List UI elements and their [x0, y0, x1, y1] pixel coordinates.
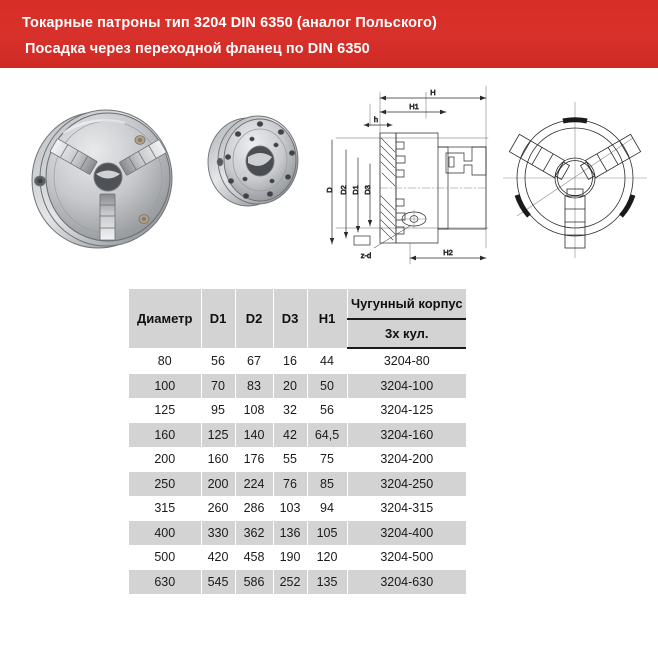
cell-cast-body: 3204-80: [347, 348, 466, 374]
table-row: 5004204581901203204-500: [129, 545, 466, 570]
cell-cast-body: 3204-400: [347, 521, 466, 546]
cell-h1: 64,5: [307, 423, 347, 448]
cell-d3: 42: [273, 423, 307, 448]
cell-h1: 94: [307, 496, 347, 521]
cell-d2: 224: [235, 472, 273, 497]
col-header-diameter: Диаметр: [129, 289, 201, 348]
cell-cast-body: 3204-125: [347, 398, 466, 423]
cell-d2: 176: [235, 447, 273, 472]
face-view-drawing: [495, 88, 655, 268]
cell-cast-body: 3204-630: [347, 570, 466, 595]
cell-cast-body: 3204-500: [347, 545, 466, 570]
table-row: 20016017655753204-200: [129, 447, 466, 472]
cell-cast-body: 3204-250: [347, 472, 466, 497]
cross-section-drawing: H H1 h D D2 D1: [318, 78, 498, 278]
cell-diameter: 80: [129, 348, 201, 374]
cell-h1: 75: [307, 447, 347, 472]
cell-d2: 458: [235, 545, 273, 570]
dim-label-D: D: [325, 187, 334, 193]
cell-d1: 95: [201, 398, 235, 423]
cell-cast-body: 3204-315: [347, 496, 466, 521]
dim-label-H1: H1: [409, 102, 419, 111]
cell-cast-body: 3204-160: [347, 423, 466, 448]
cell-d1: 160: [201, 447, 235, 472]
cell-d3: 190: [273, 545, 307, 570]
cell-diameter: 250: [129, 472, 201, 497]
cell-d2: 108: [235, 398, 273, 423]
cell-d1: 545: [201, 570, 235, 595]
specifications-table: Диаметр D1 D2 D3 H1 Чугунный корпус 3х к…: [129, 289, 466, 594]
cell-h1: 50: [307, 374, 347, 399]
cell-d1: 330: [201, 521, 235, 546]
cell-d3: 20: [273, 374, 307, 399]
col-header-d2: D2: [235, 289, 273, 348]
dim-label-H2: H2: [443, 248, 453, 257]
cell-diameter: 160: [129, 423, 201, 448]
cell-d3: 16: [273, 348, 307, 374]
col-header-d3: D3: [273, 289, 307, 348]
table-row: 1259510832563204-125: [129, 398, 466, 423]
cell-cast-body: 3204-200: [347, 447, 466, 472]
cell-d2: 362: [235, 521, 273, 546]
cell-d1: 420: [201, 545, 235, 570]
cell-diameter: 500: [129, 545, 201, 570]
table-row: 1601251404264,53204-160: [129, 423, 466, 448]
table-body: 80566716443204-80100708320503204-1001259…: [129, 348, 466, 594]
dim-label-D1: D1: [351, 185, 360, 195]
dim-label-D2: D2: [339, 185, 348, 195]
cell-h1: 56: [307, 398, 347, 423]
col-subheader-3jaw: 3х кул.: [347, 319, 466, 348]
cell-d3: 32: [273, 398, 307, 423]
cell-h1: 120: [307, 545, 347, 570]
cell-d1: 125: [201, 423, 235, 448]
cell-d1: 70: [201, 374, 235, 399]
cell-h1: 85: [307, 472, 347, 497]
chuck-rear-photo: [200, 105, 310, 215]
cell-d3: 55: [273, 447, 307, 472]
chuck-front-photo: [18, 88, 198, 268]
product-media-strip: H H1 h D D2 D1: [0, 70, 658, 282]
cell-d3: 76: [273, 472, 307, 497]
cell-diameter: 315: [129, 496, 201, 521]
cell-d1: 200: [201, 472, 235, 497]
col-header-d1: D1: [201, 289, 235, 348]
cell-d3: 252: [273, 570, 307, 595]
cell-h1: 105: [307, 521, 347, 546]
table-header: Диаметр D1 D2 D3 H1 Чугунный корпус 3х к…: [129, 289, 466, 348]
cell-diameter: 400: [129, 521, 201, 546]
cell-diameter: 125: [129, 398, 201, 423]
dim-label-D3: D3: [363, 185, 372, 195]
specifications-table-container: Диаметр D1 D2 D3 H1 Чугунный корпус 3х к…: [129, 289, 466, 594]
table-row: 80566716443204-80: [129, 348, 466, 374]
cell-h1: 135: [307, 570, 347, 595]
cell-d2: 83: [235, 374, 273, 399]
table-row: 25020022476853204-250: [129, 472, 466, 497]
cell-diameter: 200: [129, 447, 201, 472]
table-row: 315260286103943204-315: [129, 496, 466, 521]
cell-d2: 67: [235, 348, 273, 374]
cell-d1: 260: [201, 496, 235, 521]
banner-title-line-1: Токарные патроны тип 3204 DIN 6350 (анал…: [22, 15, 437, 31]
cell-h1: 44: [307, 348, 347, 374]
cell-d2: 586: [235, 570, 273, 595]
cell-d1: 56: [201, 348, 235, 374]
cell-d2: 286: [235, 496, 273, 521]
col-header-cast-body: Чугунный корпус: [347, 289, 466, 319]
col-header-h1: H1: [307, 289, 347, 348]
cell-d2: 140: [235, 423, 273, 448]
cell-d3: 136: [273, 521, 307, 546]
table-row: 4003303621361053204-400: [129, 521, 466, 546]
dim-label-H: H: [430, 88, 435, 97]
table-row: 6305455862521353204-630: [129, 570, 466, 595]
cell-cast-body: 3204-100: [347, 374, 466, 399]
table-header-row-primary: Диаметр D1 D2 D3 H1 Чугунный корпус: [129, 289, 466, 319]
page-header-banner: Токарные патроны тип 3204 DIN 6350 (анал…: [0, 0, 658, 68]
cell-d3: 103: [273, 496, 307, 521]
dim-label-h: h: [374, 115, 378, 124]
table-row: 100708320503204-100: [129, 374, 466, 399]
dim-label-zd: z-d: [361, 251, 371, 260]
cell-diameter: 630: [129, 570, 201, 595]
cell-diameter: 100: [129, 374, 201, 399]
banner-title-line-2: Посадка через переходной фланец по DIN 6…: [25, 41, 370, 57]
